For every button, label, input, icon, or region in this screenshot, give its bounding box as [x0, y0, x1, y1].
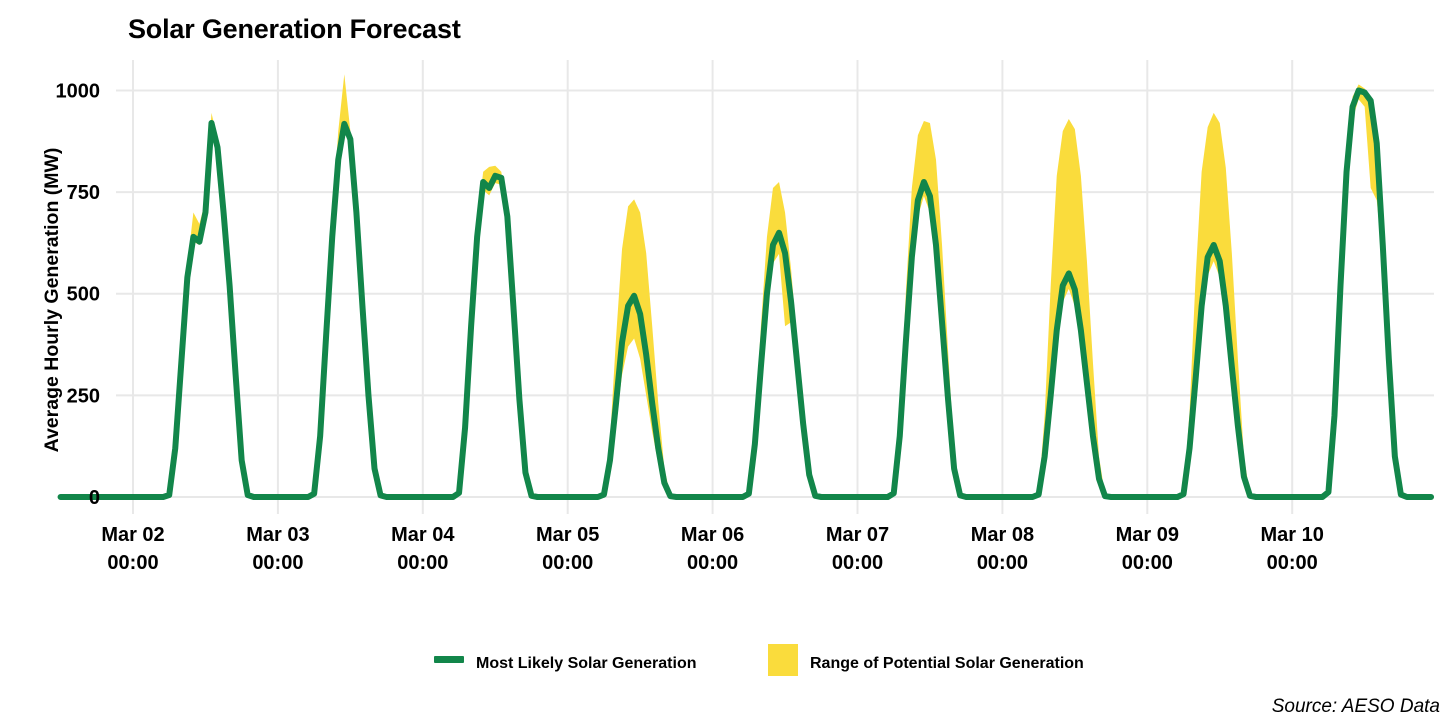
x-tick-time: 00:00: [107, 552, 158, 574]
x-tick-date: Mar 04: [391, 524, 455, 546]
y-tick-label: 1000: [56, 80, 101, 102]
x-tick-date: Mar 09: [1116, 524, 1179, 546]
x-tick-date: Mar 03: [246, 524, 309, 546]
y-tick-label: 0: [89, 487, 100, 509]
x-tick-time: 00:00: [252, 552, 303, 574]
x-tick-date: Mar 07: [826, 524, 889, 546]
legend-item-most-likely-label: Most Likely Solar Generation: [476, 655, 697, 672]
solar-generation-forecast-chart: Solar Generation Forecast Average Hourly…: [0, 0, 1456, 728]
legend-swatch-marker-icon: [768, 644, 798, 676]
page-title: Solar Generation Forecast: [128, 14, 461, 44]
x-tick-date: Mar 08: [971, 524, 1034, 546]
x-tick-time: 00:00: [687, 552, 738, 574]
chart-canvas: Solar Generation Forecast Average Hourly…: [0, 0, 1456, 728]
x-tick-date: Mar 05: [536, 524, 599, 546]
y-tick-label: 750: [67, 182, 100, 204]
y-tick-label: 500: [67, 284, 100, 306]
x-tick-date: Mar 10: [1261, 524, 1324, 546]
y-tick-label: 250: [67, 385, 100, 407]
x-tick-time: 00:00: [832, 552, 883, 574]
x-tick-time: 00:00: [1122, 552, 1173, 574]
x-tick-date: Mar 06: [681, 524, 744, 546]
legend-line-marker-icon: [434, 656, 464, 663]
x-tick-time: 00:00: [397, 552, 448, 574]
x-tick-time: 00:00: [542, 552, 593, 574]
y-axis-label: Average Hourly Generation (MW): [41, 148, 63, 453]
legend-item-range-label: Range of Potential Solar Generation: [810, 655, 1084, 672]
x-tick-time: 00:00: [977, 552, 1028, 574]
source-attribution: Source: AESO Data: [1272, 696, 1440, 717]
x-tick-date: Mar 02: [101, 524, 164, 546]
x-tick-time: 00:00: [1267, 552, 1318, 574]
